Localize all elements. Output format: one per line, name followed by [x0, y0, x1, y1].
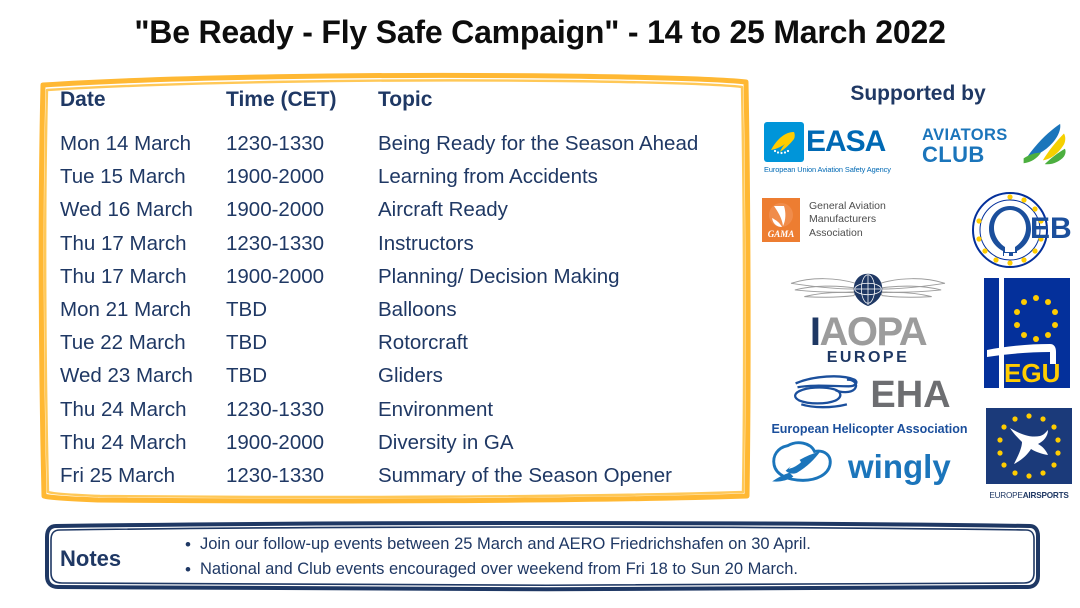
page-title: "Be Ready - Fly Safe Campaign" - 14 to 2… — [0, 14, 1080, 51]
cell-date: Thu 24 March — [60, 431, 226, 455]
egu-wordmark: EGU — [1004, 358, 1060, 388]
logo-egu: EGU — [984, 278, 1070, 393]
cell-topic: Instructors — [378, 232, 736, 256]
iaopa-wordmark: AOPA — [820, 310, 927, 354]
cell-time: 1230-1330 — [226, 132, 378, 156]
iaopa-bar: I — [810, 310, 820, 354]
cell-date: Fri 25 March — [60, 464, 226, 488]
gama-wordmark: GAMA — [762, 229, 800, 239]
notes-label: Notes — [60, 546, 121, 572]
schedule-table: Date Time (CET) Topic Mon 14 March 1230-… — [60, 88, 736, 497]
cell-time: 1900-2000 — [226, 198, 378, 222]
logo-iaopa-europe: IAOPA EUROPE — [770, 270, 966, 367]
table-row: Thu 17 March 1900-2000 Planning/ Decisio… — [60, 265, 736, 298]
cell-date: Thu 17 March — [60, 265, 226, 289]
cell-time: TBD — [226, 364, 378, 388]
table-row: Tue 22 March TBD Rotorcraft — [60, 331, 736, 364]
cell-date: Wed 23 March — [60, 364, 226, 388]
supporter-logos: EASA European Union Aviation Safety Agen… — [756, 112, 1078, 500]
table-row: Tue 15 March 1900-2000 Learning from Acc… — [60, 165, 736, 198]
eha-helicopter-icon — [788, 368, 864, 421]
table-row: Wed 16 March 1900-2000 Aircraft Ready — [60, 198, 736, 231]
table-row: Thu 24 March 1900-2000 Diversity in GA — [60, 431, 736, 464]
table-row: Wed 23 March TBD Gliders — [60, 364, 736, 397]
logo-easa: EASA European Union Aviation Safety Agen… — [764, 122, 916, 174]
aviators-club-swoosh-icon — [1010, 120, 1068, 173]
europe-airsports-name1: EUROPE — [989, 491, 1022, 500]
europe-airsports-name2: AIRSPORTS — [1023, 491, 1069, 500]
eha-subtitle: European Helicopter Association — [762, 422, 977, 436]
cell-time: 1230-1330 — [226, 232, 378, 256]
gama-mark-icon: GAMA — [762, 198, 800, 242]
list-item: Join our follow-up events between 25 Mar… — [200, 532, 811, 557]
table-row: Mon 14 March 1230-1330 Being Ready for t… — [60, 132, 736, 165]
cell-time: TBD — [226, 298, 378, 322]
list-item: National and Club events encouraged over… — [200, 557, 811, 582]
cell-date: Thu 24 March — [60, 398, 226, 422]
easa-bird-icon — [764, 122, 804, 162]
cell-topic: Learning from Accidents — [378, 165, 736, 189]
cell-date: Wed 16 March — [60, 198, 226, 222]
logo-gama: GAMA General Aviation Manufacturers Asso… — [762, 198, 932, 242]
ebf-wordmark: EBF — [1030, 212, 1072, 245]
cell-date: Thu 17 March — [60, 232, 226, 256]
table-row: Thu 24 March 1230-1330 Environment — [60, 398, 736, 431]
notes-panel: Notes Join our follow-up events between … — [42, 520, 1042, 592]
gama-line1: General Aviation — [809, 200, 932, 213]
wingly-wordmark: wingly — [848, 450, 951, 483]
notes-list: Join our follow-up events between 25 Mar… — [182, 532, 811, 582]
column-header-date: Date — [60, 88, 226, 112]
wingly-cloud-plane-icon — [766, 438, 840, 495]
cell-topic: Summary of the Season Opener — [378, 464, 736, 488]
cell-date: Mon 14 March — [60, 132, 226, 156]
table-row: Thu 17 March 1230-1330 Instructors — [60, 232, 736, 265]
logo-europe-airsports: EUROPEAIRSPORTS — [986, 408, 1072, 500]
cell-topic: Being Ready for the Season Ahead — [378, 132, 736, 156]
logo-aviators-club: AVIATORS CLUB — [922, 120, 1074, 173]
schedule-panel: Date Time (CET) Topic Mon 14 March 1230-… — [38, 68, 752, 506]
cell-date: Tue 15 March — [60, 165, 226, 189]
cell-time: 1900-2000 — [226, 265, 378, 289]
cell-topic: Diversity in GA — [378, 431, 736, 455]
easa-subtitle: European Union Aviation Safety Agency — [764, 165, 916, 174]
cell-time: 1230-1330 — [226, 464, 378, 488]
logo-eha: EHA European Helicopter Association — [762, 368, 977, 436]
cell-time: TBD — [226, 331, 378, 355]
table-header-row: Date Time (CET) Topic — [60, 88, 736, 132]
logo-wingly: wingly — [766, 438, 976, 495]
column-header-topic: Topic — [378, 88, 736, 112]
cell-topic: Environment — [378, 398, 736, 422]
eha-wordmark: EHA — [870, 376, 950, 414]
column-header-time: Time (CET) — [226, 88, 378, 112]
cell-topic: Balloons — [378, 298, 736, 322]
table-row: Mon 21 March TBD Balloons — [60, 298, 736, 331]
cell-date: Mon 21 March — [60, 298, 226, 322]
easa-wordmark: EASA — [806, 127, 885, 157]
gama-line2: Manufacturers Association — [809, 213, 932, 239]
logo-ebf: EBF — [968, 190, 1072, 275]
cell-topic: Rotorcraft — [378, 331, 736, 355]
europe-airsports-eagle-icon — [986, 408, 1072, 484]
cell-topic: Gliders — [378, 364, 736, 388]
cell-topic: Planning/ Decision Making — [378, 265, 736, 289]
cell-time: 1900-2000 — [226, 165, 378, 189]
supported-by-heading: Supported by — [768, 82, 1068, 106]
iaopa-subtitle: EUROPE — [770, 349, 966, 367]
aviators-club-line2: CLUB — [922, 144, 1008, 166]
cell-date: Tue 22 March — [60, 331, 226, 355]
cell-topic: Aircraft Ready — [378, 198, 736, 222]
cell-time: 1900-2000 — [226, 431, 378, 455]
table-row: Fri 25 March 1230-1330 Summary of the Se… — [60, 464, 736, 497]
cell-time: 1230-1330 — [226, 398, 378, 422]
